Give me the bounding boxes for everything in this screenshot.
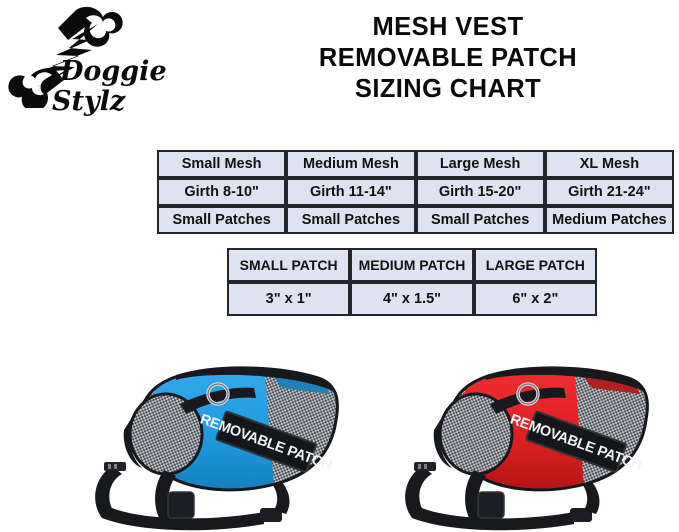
product-image-red-harness: REMOVABLE PATCH	[378, 358, 678, 532]
table-row-mesh-size: Small Mesh Medium Mesh Large Mesh XL Mes…	[157, 150, 674, 178]
cell-mesh-patches: Small Patches	[157, 206, 286, 234]
table-row-mesh-girth: Girth 8-10" Girth 11-14" Girth 15-20" Gi…	[157, 178, 674, 206]
cell-patch-name: LARGE PATCH	[474, 248, 597, 282]
cell-mesh-size: XL Mesh	[545, 150, 674, 178]
mesh-sizing-table: Small Mesh Medium Mesh Large Mesh XL Mes…	[157, 150, 674, 234]
cell-mesh-size: Small Mesh	[157, 150, 286, 178]
page-title: MESH VEST REMOVABLE PATCH SIZING CHART	[222, 12, 674, 105]
cell-mesh-girth: Girth 8-10"	[157, 178, 286, 206]
cell-mesh-girth: Girth 21-24"	[545, 178, 674, 206]
cell-patch-dims: 4" x 1.5"	[350, 282, 473, 316]
cell-mesh-girth: Girth 15-20"	[416, 178, 545, 206]
brand-logo: Doggie Stylz	[4, 4, 194, 132]
brand-wordmark: Doggie Stylz	[60, 58, 192, 130]
cell-patch-dims: 3" x 1"	[227, 282, 350, 316]
page-title-line-1: MESH VEST	[222, 12, 674, 43]
table-row-patch-dims: 3" x 1" 4" x 1.5" 6" x 2"	[227, 282, 597, 316]
page-title-line-3: SIZING CHART	[222, 74, 674, 105]
product-image-blue-harness: REMOVABLE PATCH	[68, 358, 368, 532]
page-title-line-2: REMOVABLE PATCH	[222, 43, 674, 74]
cell-patch-dims: 6" x 2"	[474, 282, 597, 316]
patch-sizing-table: SMALL PATCH MEDIUM PATCH LARGE PATCH 3" …	[227, 248, 597, 316]
cell-mesh-girth: Girth 11-14"	[286, 178, 415, 206]
cell-mesh-size: Medium Mesh	[286, 150, 415, 178]
cell-patch-name: SMALL PATCH	[227, 248, 350, 282]
product-photo-row: REMOVABLE PATCH	[0, 358, 679, 532]
table-row-patch-name: SMALL PATCH MEDIUM PATCH LARGE PATCH	[227, 248, 597, 282]
cell-mesh-patches: Small Patches	[416, 206, 545, 234]
cell-mesh-patches: Small Patches	[286, 206, 415, 234]
brand-name-line-1: Doggie	[60, 58, 192, 86]
cell-mesh-patches: Medium Patches	[545, 206, 674, 234]
cell-patch-name: MEDIUM PATCH	[350, 248, 473, 282]
brand-name-line-2: Stylz	[52, 88, 192, 116]
cell-mesh-size: Large Mesh	[416, 150, 545, 178]
table-row-mesh-patches: Small Patches Small Patches Small Patche…	[157, 206, 674, 234]
